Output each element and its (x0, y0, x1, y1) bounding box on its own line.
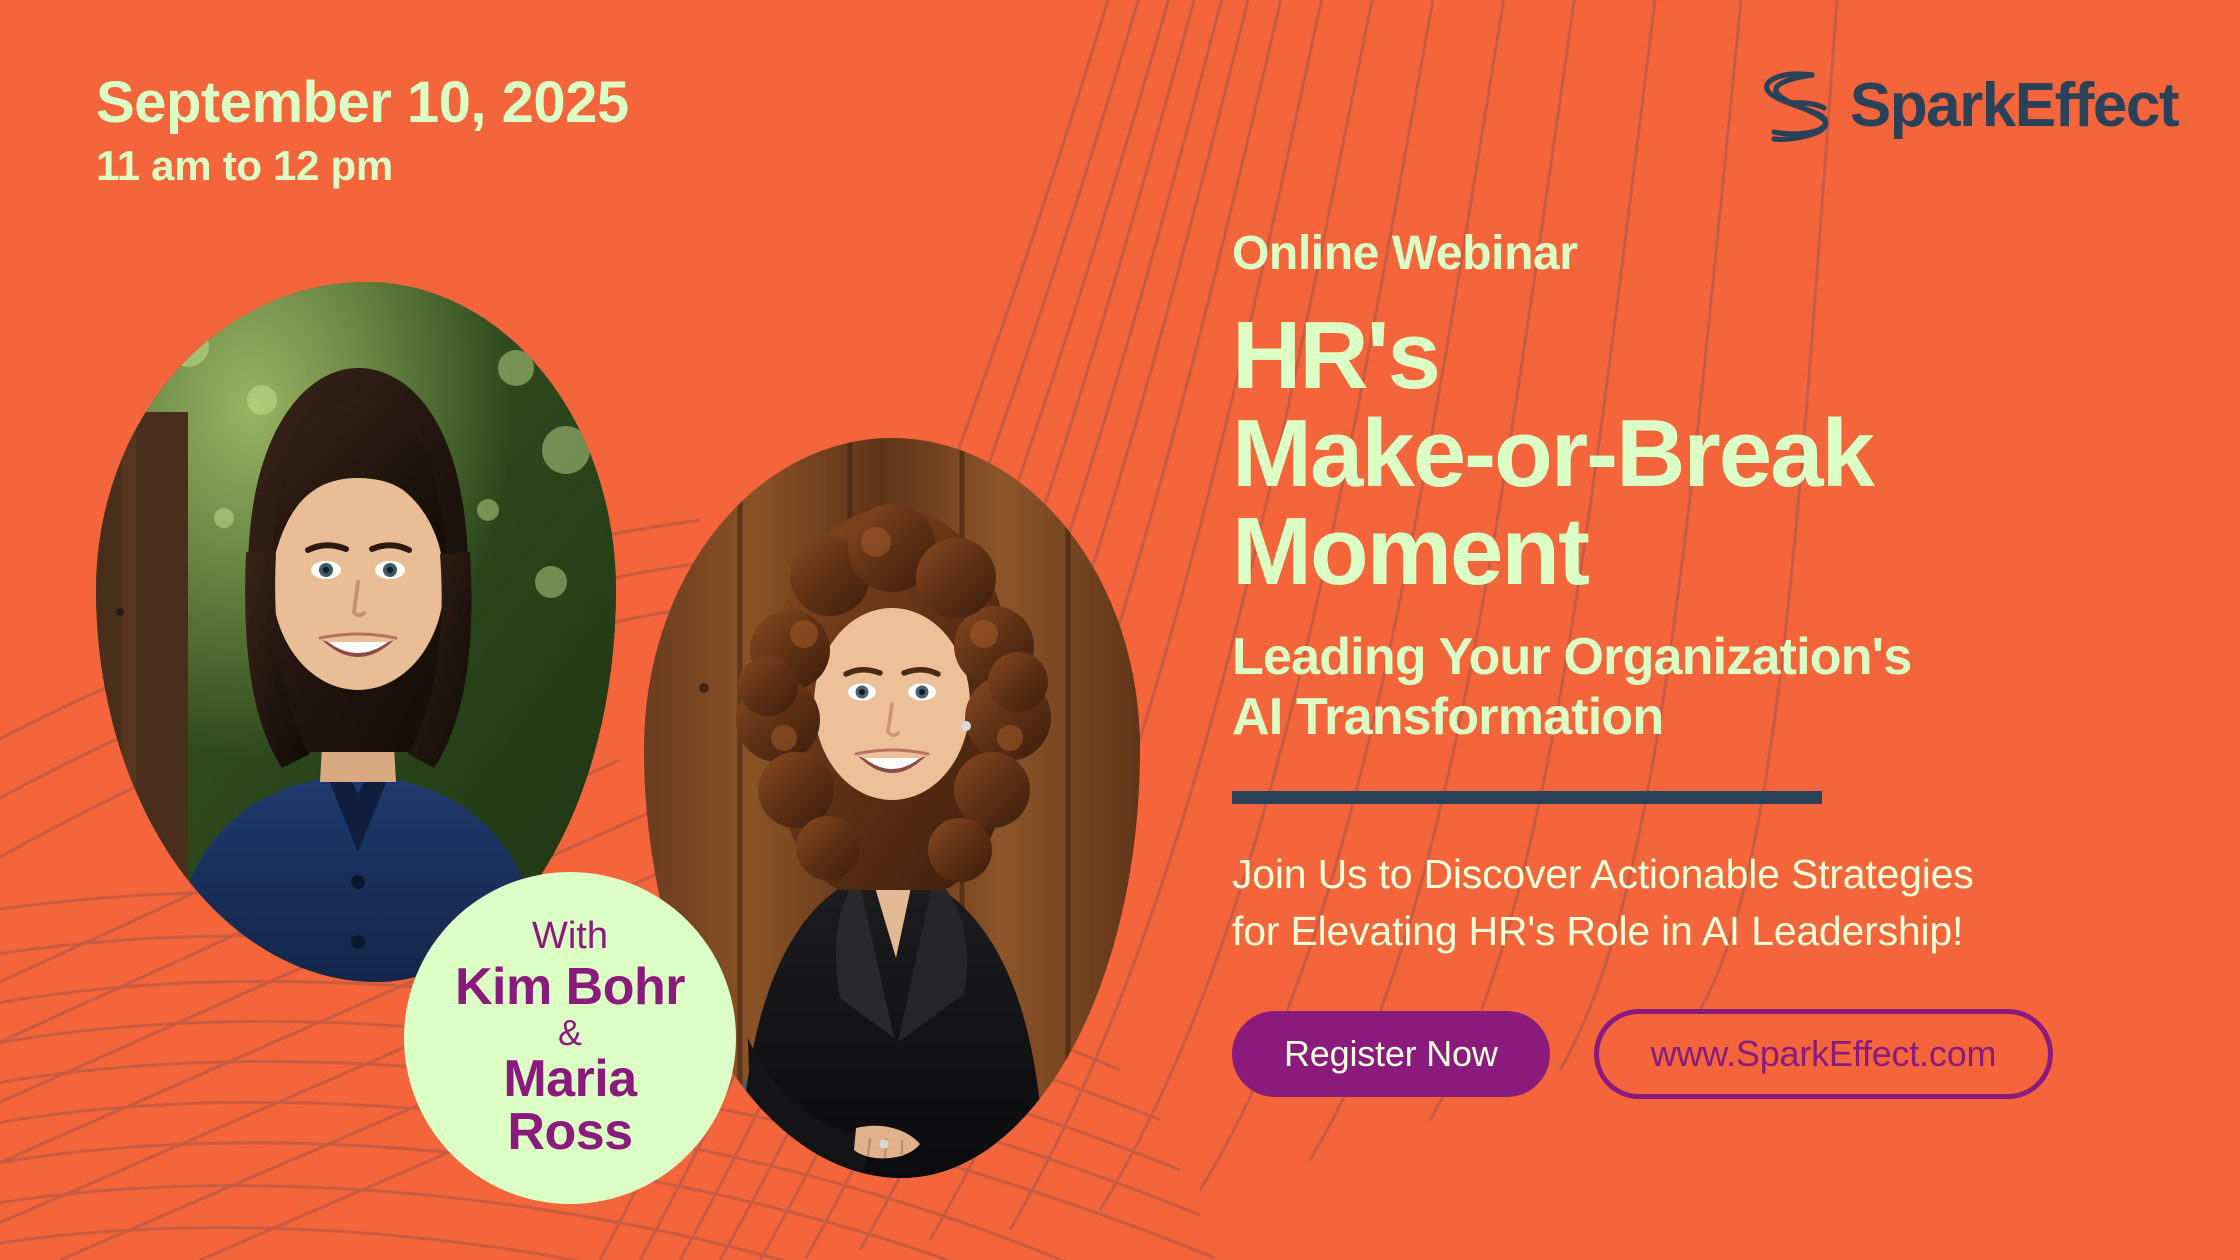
page-title: HR's Make-or-Break Moment (1232, 307, 2192, 601)
webinar-promo-canvas: September 10, 2025 11 am to 12 pm (0, 0, 2240, 1260)
eyebrow-label: Online Webinar (1232, 228, 2192, 281)
headline-line-1: HR's (1232, 307, 2192, 405)
spark-spiral-icon (1760, 62, 1832, 148)
subtitle-line-2: AI Transformation (1232, 687, 2192, 747)
event-date-block: September 10, 2025 11 am to 12 pm (96, 72, 629, 192)
headline-line-2: Make-or-Break (1232, 405, 2192, 503)
section-divider (1232, 791, 1822, 804)
subtitle-line-1: Leading Your Organization's (1232, 627, 2192, 687)
event-date: September 10, 2025 (96, 72, 629, 133)
cta-row: Register Now www.SparkEffect.com (1232, 1009, 2192, 1099)
logo-wordmark: SparkEffect (1850, 70, 2178, 141)
badge-ampersand: & (558, 1015, 582, 1051)
sparkeffect-logo[interactable]: SparkEffect (1760, 62, 2178, 148)
speaker-name-two-line1: Maria (503, 1053, 636, 1106)
speaker-badge: With Kim Bohr & Maria Ross (404, 872, 736, 1204)
body-copy: Join Us to Discover Actionable Strategie… (1232, 846, 2192, 959)
register-now-button[interactable]: Register Now (1232, 1011, 1550, 1097)
body-line-2: for Elevating HR's Role in AI Leadership… (1232, 903, 2192, 960)
speaker-name-two-line2: Ross (507, 1106, 632, 1159)
subtitle: Leading Your Organization's AI Transform… (1232, 627, 2192, 748)
body-line-1: Join Us to Discover Actionable Strategie… (1232, 846, 2192, 903)
website-link-button[interactable]: www.SparkEffect.com (1594, 1009, 2054, 1099)
headline-line-3: Moment (1232, 503, 2192, 601)
main-content-column: Online Webinar HR's Make-or-Break Moment… (1232, 228, 2192, 1099)
speaker-name-one: Kim Bohr (455, 961, 685, 1013)
event-time: 11 am to 12 pm (96, 141, 629, 191)
badge-with-label: With (532, 917, 608, 955)
